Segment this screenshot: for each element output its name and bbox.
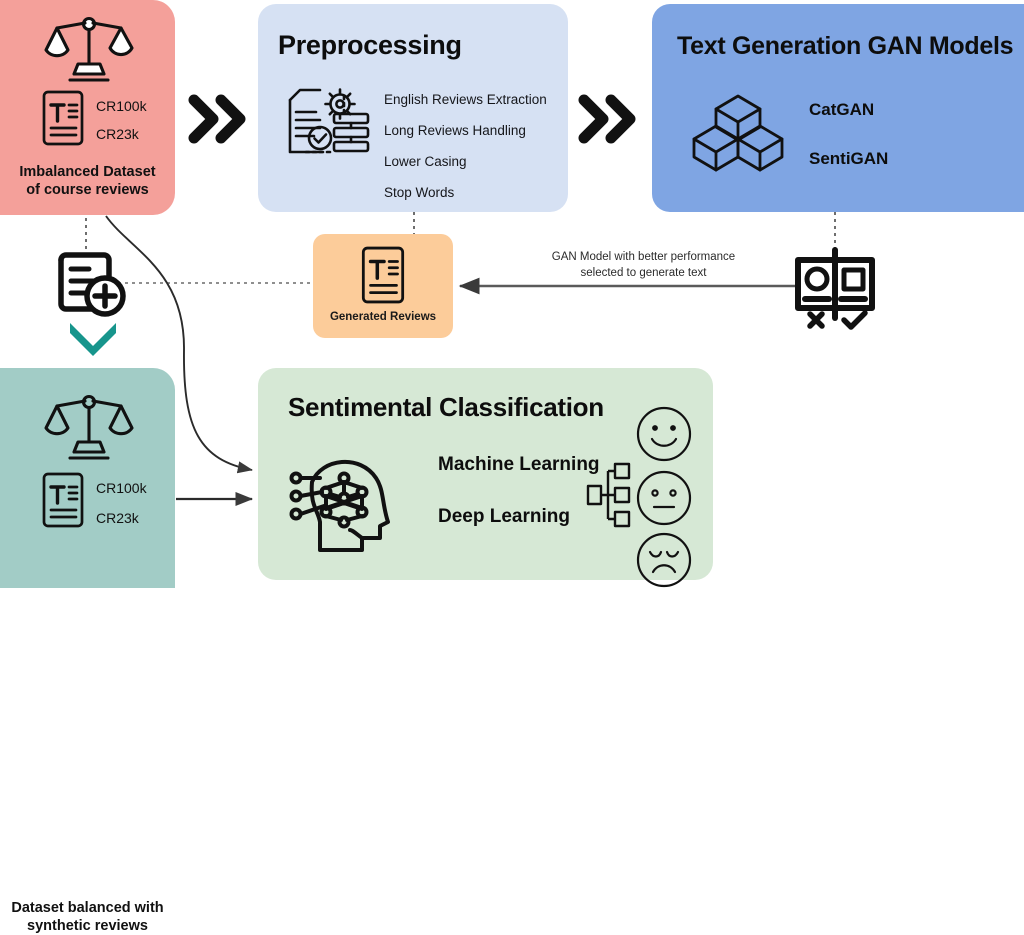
preprocessing-steps: English Reviews Extraction Long Reviews …: [384, 92, 547, 216]
balanced-label-cr100k: CR100k: [96, 480, 147, 496]
3d-cubes-icon: [694, 94, 784, 176]
classification-methods: Machine Learning Deep Learning: [438, 454, 600, 558]
preprocessing-step-0: English Reviews Extraction: [384, 92, 547, 107]
stage-preprocessing[interactable]: Preprocessing: [258, 4, 568, 212]
hierarchy-tree-icon: [588, 464, 630, 526]
balanced-caption: Dataset balanced with synthetic reviews: [0, 899, 175, 935]
balanced-label-cr23k: CR23k: [96, 510, 139, 526]
chevron-double-right-icon: [188, 92, 250, 146]
chevron-down-thick-icon: [68, 320, 118, 352]
gan-model-catgan: CatGAN: [809, 100, 888, 120]
balanced-caption-line1: Dataset balanced with: [11, 900, 163, 916]
selection-edge-label: GAN Model with better performance select…: [536, 250, 751, 281]
gan-model-sentigan: SentiGAN: [809, 149, 888, 169]
stage-balanced-dataset[interactable]: CR100k CR23k Dataset balanced with synth…: [0, 368, 175, 588]
text-document-icon-generated: [361, 246, 405, 304]
imbalanced-caption-line1: Imbalanced Dataset: [19, 164, 155, 180]
balance-scale-icon-balanced: [45, 390, 133, 462]
compare-models-check-cross-icon: [792, 248, 880, 332]
stage-sentimental-classification[interactable]: Sentimental Classification M: [258, 368, 713, 580]
preprocessing-step-3: Stop Words: [384, 185, 547, 200]
face-neutral-icon: [636, 470, 692, 526]
imbalanced-caption: Imbalanced Dataset of course reviews: [0, 163, 175, 199]
preprocessing-step-1: Long Reviews Handling: [384, 123, 547, 138]
diagram-canvas: CR100k CR23k Imbalanced Dataset of cours…: [0, 0, 1024, 588]
evaluation-comparison[interactable]: [792, 248, 880, 332]
gan-models-title: Text Generation GAN Models: [677, 32, 1013, 61]
chevron-double-right-icon-2: [578, 92, 640, 146]
balance-scale-icon: [45, 12, 133, 84]
selection-edge-label-line1: GAN Model with better performance: [552, 251, 735, 263]
selection-edge-label-line2: selected to generate text: [581, 267, 707, 279]
preprocessing-title: Preprocessing: [278, 30, 462, 61]
face-happy-icon: [636, 406, 692, 462]
face-sad-icon: [636, 532, 692, 588]
dataset-label-cr23k: CR23k: [96, 126, 139, 142]
imbalanced-caption-line2: of course reviews: [26, 182, 149, 198]
text-document-icon-balanced: [42, 472, 84, 528]
ai-brain-head-icon: [288, 448, 400, 560]
classification-method-dl: Deep Learning: [438, 506, 600, 528]
text-document-icon: [42, 90, 84, 146]
gan-model-list: CatGAN SentiGAN: [809, 100, 888, 198]
merge-datasets[interactable]: [56, 252, 136, 350]
balanced-caption-line2: synthetic reviews: [27, 918, 148, 934]
preprocessing-step-2: Lower Casing: [384, 154, 547, 169]
stage-generated-reviews[interactable]: Generated Reviews: [313, 234, 453, 338]
dataset-label-cr100k: CR100k: [96, 98, 147, 114]
classification-title: Sentimental Classification: [288, 392, 604, 423]
generated-reviews-caption: Generated Reviews: [313, 310, 453, 324]
classification-method-ml: Machine Learning: [438, 454, 600, 476]
stage-gan-models[interactable]: Text Generation GAN Models CatGAN SentiG…: [652, 4, 1024, 212]
stage-imbalanced-dataset[interactable]: CR100k CR23k Imbalanced Dataset of cours…: [0, 0, 175, 215]
document-add-icon: [56, 252, 132, 320]
document-gear-settings-icon: [286, 86, 378, 168]
